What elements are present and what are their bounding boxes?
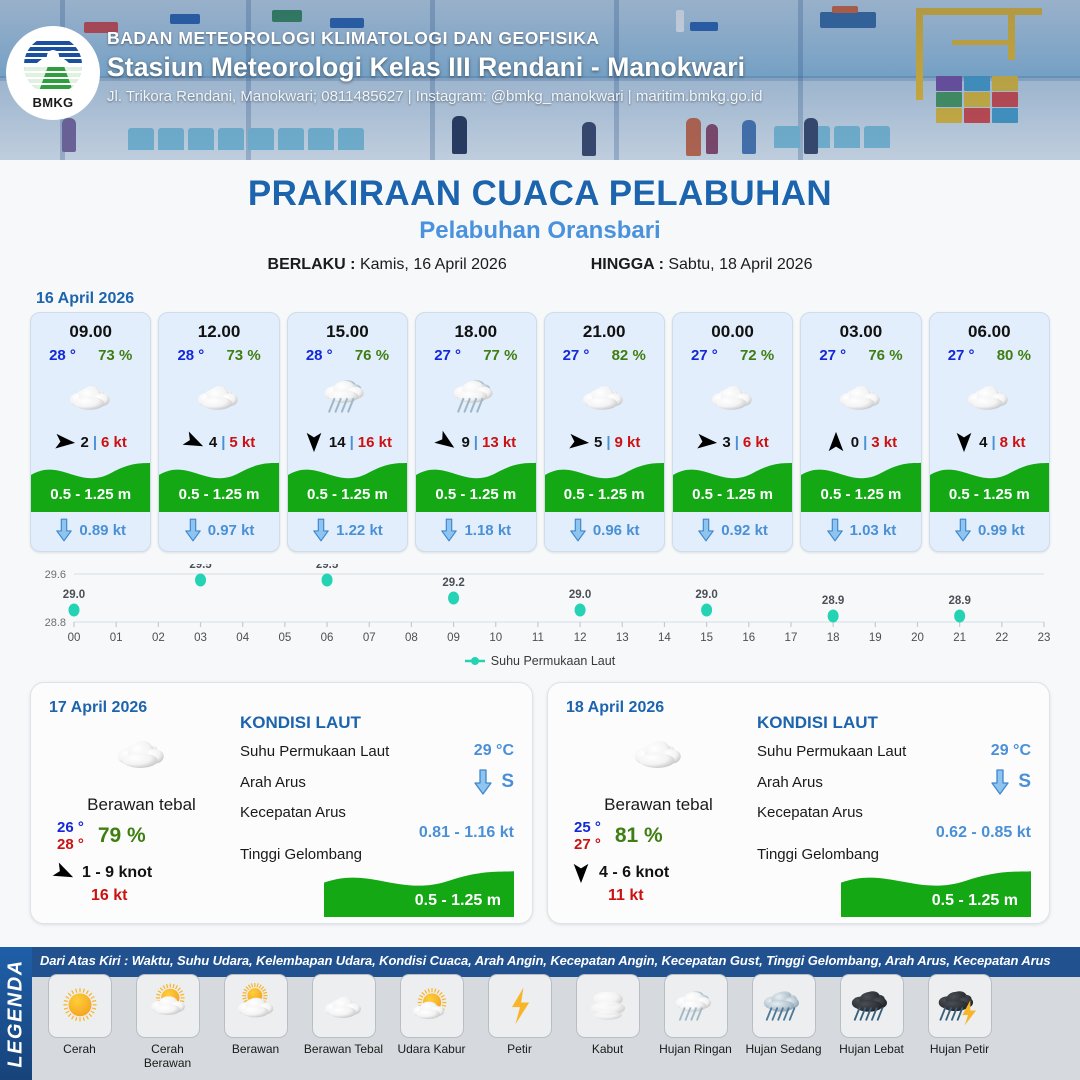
card-temp-humidity: 27 ° 80 % [930,342,1049,364]
cloudy-icon [830,371,892,422]
bmkg-logo-text: BMKG [33,95,74,110]
daily-left-column: 17 April 2026 Berawan tebal [49,699,234,907]
svg-text:23: 23 [1038,632,1051,644]
sea-sst-row: Suhu Permukaan Laut 29 °C [240,742,514,760]
legend-icon-box [840,974,904,1038]
card-humidity: 73 % [98,347,132,364]
legend-items: Cerah Cerah Berawan [32,968,1080,1070]
legend-icon-box [312,974,376,1038]
legend-item: Berawan Tebal [302,974,385,1070]
card-time: 21.00 [545,313,664,342]
svg-text:15: 15 [700,632,713,644]
wave-height-graphic [545,456,665,512]
sea-current-direction: S [501,771,514,793]
card-current-speed: 1.03 kt [850,522,897,539]
legend-icon-box [400,974,464,1038]
card-current-speed: 0.89 kt [79,522,126,539]
card-wind-direction: 0 [851,434,859,451]
wind-direction-arrow-icon [303,431,325,453]
current-direction-arrow-icon [697,518,715,542]
legend-item: Kabut [566,974,649,1070]
card-current-row: 1.18 kt [416,512,535,551]
card-wind-row: 9 | 13 kt [416,425,535,455]
card-humidity: 80 % [997,347,1031,364]
legend-item-label: Hujan Petir [918,1042,1001,1056]
legend-icon-box [488,974,552,1038]
hourly-forecast-card: 03.00 27 ° 76 % [800,312,921,552]
card-gust-speed: 6 kt [743,434,769,451]
current-direction-arrow-icon [55,518,73,542]
card-temperature: 27 ° [691,347,718,364]
legend-item-label: Cerah [38,1042,121,1056]
legend-icon-box [136,974,200,1038]
card-wind-row: 4 | 8 kt [930,425,1049,455]
daily-wind-row: 4 - 6 knot [566,862,751,884]
card-wind-direction: 9 [461,434,469,451]
daily-sea-column: KONDISI LAUT Suhu Permukaan Laut 29 °C A… [234,699,514,907]
card-wind-row: 14 | 16 kt [288,425,407,455]
legend-item-label: Hujan Ringan [654,1042,737,1056]
wind-direction-arrow-icon [54,430,78,454]
daily-temp-max: 27 ° [574,836,601,853]
sea-sst-value: 29 °C [991,742,1031,760]
partly-cloudy-icon [140,983,196,1029]
card-current-speed: 1.18 kt [464,522,511,539]
card-current-speed: 0.96 kt [593,522,640,539]
svg-text:28.8: 28.8 [45,617,66,629]
card-weather-icon [673,367,792,425]
legend-section: LEGENDA Dari Atas Kiri : Waktu, Suhu Uda… [0,947,1080,1080]
card-temp-humidity: 28 ° 73 % [31,342,150,364]
rain-light-icon [316,371,378,422]
wind-direction-arrow-icon [825,431,847,453]
legend-item-label: Berawan [214,1042,297,1056]
card-weather-icon [159,367,278,425]
legend-item: Cerah [38,974,121,1070]
cloudy-icon [188,371,250,422]
card-time: 12.00 [159,313,278,342]
svg-text:18: 18 [827,632,840,644]
legend-item-label: Petir [478,1042,561,1056]
svg-text:17: 17 [785,632,798,644]
card-temperature: 28 ° [49,347,76,364]
card-temperature: 28 ° [177,347,204,364]
daily-temp-column: 25 ° 27 ° [574,819,601,853]
sea-sst-row: Suhu Permukaan Laut 29 °C [757,742,1031,760]
hourly-forecast-card: 12.00 28 ° 73 % [158,312,279,552]
card-wind-row: 4 | 5 kt [159,425,278,455]
haze-icon [404,983,460,1029]
card-temperature: 27 ° [563,347,590,364]
card-wind-row: 5 | 9 kt [545,425,664,455]
wave-height-graphic [288,456,408,512]
legend-item: Berawan [214,974,297,1070]
svg-text:12: 12 [574,632,587,644]
card-wave-height: 0.5 - 1.25 m [416,486,535,503]
daily-wind-range: 1 - 9 knot [82,864,152,882]
sea-sst-value: 29 °C [474,742,514,760]
legend-tab-label: LEGENDA [5,959,28,1067]
bmkg-logo-mark [22,36,84,94]
card-wave: 0.5 - 1.25 m [545,456,664,512]
card-current-row: 0.89 kt [31,512,150,551]
card-current-row: 1.22 kt [288,512,407,551]
hourly-date-label: 16 April 2026 [36,290,1080,308]
daily-wind-range: 4 - 6 knot [599,864,669,882]
valid-from: BERLAKU : Kamis, 16 April 2026 [268,256,507,274]
valid-to-value: Sabtu, 18 April 2026 [668,256,812,273]
sst-chart-svg: 28.829.600010203040506070809101112131415… [22,564,1058,652]
daily-weather-icon [566,723,751,783]
svg-text:14: 14 [658,632,671,644]
current-direction-arrow-icon [569,518,587,542]
agency-name: BADAN METEOROLOGI KLIMATOLOGI DAN GEOFIS… [107,28,763,49]
legend-body: Dari Atas Kiri : Waktu, Suhu Udara, Kele… [32,947,1080,1080]
card-temp-humidity: 27 ° 76 % [801,342,920,364]
sea-wave-graphic-wrap: 0.5 - 1.25 m [757,865,1031,919]
sea-current-direction: S [1018,771,1031,793]
svg-text:09: 09 [447,632,460,644]
wind-direction-arrow-icon [49,858,78,887]
svg-text:21: 21 [953,632,966,644]
card-time: 15.00 [288,313,407,342]
card-wave-height: 0.5 - 1.25 m [801,486,920,503]
legend-item: Udara Kabur [390,974,473,1070]
card-weather-icon [545,367,664,425]
card-wave-height: 0.5 - 1.25 m [930,486,1049,503]
legend-icon-box [48,974,112,1038]
svg-text:28.9: 28.9 [822,595,844,607]
cloudy-icon [106,723,178,782]
svg-text:06: 06 [321,632,334,644]
legend-icon-box [664,974,728,1038]
card-current-row: 0.92 kt [673,512,792,551]
sea-sst-label: Suhu Permukaan Laut [757,743,906,760]
svg-text:01: 01 [110,632,123,644]
card-humidity: 76 % [868,347,902,364]
svg-text:02: 02 [152,632,165,644]
svg-text:22: 22 [995,632,1008,644]
sea-current-dir-row: Arah Arus S [240,769,514,795]
svg-text:29.0: 29.0 [695,589,717,601]
cloudy-icon [573,371,635,422]
svg-text:20: 20 [911,632,924,644]
card-separator: | [350,434,354,451]
rain-light-icon [445,371,507,422]
hourly-forecast-card: 21.00 27 ° 82 % [544,312,665,552]
card-humidity: 82 % [612,347,646,364]
legend-item: Hujan Sedang [742,974,825,1070]
svg-text:29.0: 29.0 [569,589,591,601]
card-temp-humidity: 27 ° 72 % [673,342,792,364]
daily-weather-icon [49,723,234,783]
svg-text:07: 07 [363,632,376,644]
wind-direction-arrow-icon [953,431,975,453]
card-temperature: 28 ° [306,347,333,364]
card-separator: | [606,434,610,451]
legend-icon-box [928,974,992,1038]
cloudy-icon [702,371,764,422]
wind-direction-arrow-icon [179,427,208,456]
card-separator: | [221,434,225,451]
legend-icon-box [576,974,640,1038]
header-text-block: BADAN METEOROLOGI KLIMATOLOGI DAN GEOFIS… [107,28,763,105]
svg-text:29.0: 29.0 [63,589,85,601]
card-temp-humidity: 27 ° 82 % [545,342,664,364]
svg-text:05: 05 [278,632,291,644]
daily-temp-max: 28 ° [57,836,84,853]
hourly-forecast-card: 15.00 28 ° 76 % [287,312,408,552]
wave-height-graphic [416,456,536,512]
card-time: 18.00 [416,313,535,342]
card-wave: 0.5 - 1.25 m [159,456,278,512]
legend-item: Hujan Petir [918,974,1001,1070]
legend-icon-box [752,974,816,1038]
page-header: BMKG BADAN METEOROLOGI KLIMATOLOGI DAN G… [0,0,1080,160]
daily-condition: Berawan tebal [49,795,234,815]
card-current-row: 0.97 kt [159,512,278,551]
wind-direction-arrow-icon [695,430,719,454]
svg-text:16: 16 [742,632,755,644]
card-temperature: 27 ° [819,347,846,364]
svg-text:29.2: 29.2 [442,577,464,589]
card-time: 03.00 [801,313,920,342]
sea-current-speed-value: 0.81 - 1.16 kt [240,824,514,842]
card-gust-speed: 16 kt [358,434,392,451]
svg-text:29.6: 29.6 [45,569,66,581]
rain-moderate-icon [756,983,812,1029]
legend-item-label: Hujan Sedang [742,1042,825,1056]
card-separator: | [991,434,995,451]
card-current-row: 0.96 kt [545,512,664,551]
legend-item-label: Hujan Lebat [830,1042,913,1056]
card-time: 06.00 [930,313,1049,342]
validity-row: BERLAKU : Kamis, 16 April 2026 HINGGA : … [0,256,1080,274]
daily-gust: 11 kt [566,887,751,905]
daily-humidity: 81 % [615,824,663,848]
card-time: 09.00 [31,313,150,342]
sea-current-dir-row: Arah Arus S [757,769,1031,795]
sea-wave-label: Tinggi Gelombang [240,846,514,863]
card-wave-height: 0.5 - 1.25 m [673,486,792,503]
card-gust-speed: 13 kt [482,434,516,451]
card-wind-direction: 4 [979,434,987,451]
daily-forecast-row: 17 April 2026 Berawan tebal [0,676,1080,924]
mostly-cloudy-icon [228,983,284,1029]
thunderstorm-icon [932,983,988,1029]
sea-wave-label: Tinggi Gelombang [757,846,1031,863]
hourly-forecast-row: 09.00 28 ° 73 % [0,312,1080,552]
wind-direction-arrow-icon [431,427,462,458]
svg-text:11: 11 [532,632,544,644]
chart-legend-marker-icon [465,656,485,666]
daily-date: 18 April 2026 [566,699,751,717]
card-separator: | [735,434,739,451]
current-direction-arrow-icon [473,769,493,795]
sea-wave-height: 0.5 - 1.25 m [932,892,1018,910]
legend-item: Petir [478,974,561,1070]
chart-legend-label: Suhu Permukaan Laut [491,654,615,668]
legend-item-label: Cerah Berawan [126,1042,209,1070]
wave-height-graphic [159,456,279,512]
card-wind-direction: 2 [80,434,88,451]
current-direction-arrow-icon [312,518,330,542]
daily-wind-row: 1 - 9 knot [49,862,234,884]
card-gust-speed: 3 kt [871,434,897,451]
daily-condition: Berawan tebal [566,795,751,815]
wave-height-graphic [801,456,921,512]
legend-item: Hujan Ringan [654,974,737,1070]
card-wind-row: 0 | 3 kt [801,425,920,455]
legend-icon-box [224,974,288,1038]
daily-temp-min: 25 ° [574,819,601,836]
card-wind-row: 3 | 6 kt [673,425,792,455]
sea-current-speed-label: Kecepatan Arus [757,804,1031,821]
current-direction-arrow-icon [826,518,844,542]
sea-current-dir-label: Arah Arus [757,774,823,791]
daily-temp-humidity: 26 ° 28 ° 79 % [49,819,234,853]
sea-current-speed-block: Kecepatan Arus 0.62 - 0.85 kt [757,804,1031,842]
cloudy-icon [316,983,372,1029]
legend-item: Cerah Berawan [126,974,209,1070]
daily-temp-humidity: 25 ° 27 ° 81 % [566,819,751,853]
current-direction-arrow-icon [990,769,1010,795]
card-current-speed: 1.22 kt [336,522,383,539]
card-wind-direction: 4 [209,434,217,451]
legend-item-label: Udara Kabur [390,1042,473,1056]
card-weather-icon [288,367,407,425]
current-direction-arrow-icon [184,518,202,542]
legend-item: Hujan Lebat [830,974,913,1070]
card-gust-speed: 9 kt [615,434,641,451]
card-wind-direction: 3 [722,434,730,451]
daily-sea-column: KONDISI LAUT Suhu Permukaan Laut 29 °C A… [751,699,1031,907]
card-wave: 0.5 - 1.25 m [930,456,1049,512]
page-subtitle: Pelabuhan Oransbari [0,217,1080,245]
sea-current-speed-value: 0.62 - 0.85 kt [757,824,1031,842]
sea-current-dir-label: Arah Arus [240,774,306,791]
cloudy-icon [60,371,122,422]
card-humidity: 72 % [740,347,774,364]
bmkg-logo: BMKG [6,26,100,120]
legend-tab: LEGENDA [0,947,32,1080]
cloudy-icon [958,371,1020,422]
daily-date: 17 April 2026 [49,699,234,717]
card-wave: 0.5 - 1.25 m [288,456,407,512]
card-current-speed: 0.97 kt [208,522,255,539]
daily-forecast-panel: 17 April 2026 Berawan tebal [30,682,533,924]
chart-legend: Suhu Permukaan Laut [22,654,1058,668]
rain-light-icon [668,983,724,1029]
card-gust-speed: 6 kt [101,434,127,451]
svg-text:00: 00 [68,632,81,644]
sea-conditions-title: KONDISI LAUT [240,713,514,733]
card-separator: | [93,434,97,451]
card-time: 00.00 [673,313,792,342]
card-weather-icon [31,367,150,425]
svg-text:03: 03 [194,632,207,644]
card-wind-direction: 14 [329,434,346,451]
hourly-forecast-card: 00.00 27 ° 72 % [672,312,793,552]
bmkg-logo-svg [22,36,84,94]
card-wind-direction: 5 [594,434,602,451]
svg-text:13: 13 [616,632,629,644]
card-temperature: 27 ° [434,347,461,364]
card-wave-height: 0.5 - 1.25 m [545,486,664,503]
rain-heavy-icon [844,983,900,1029]
daily-temp-min: 26 ° [57,819,84,836]
card-humidity: 76 % [355,347,389,364]
card-gust-speed: 5 kt [229,434,255,451]
card-wave: 0.5 - 1.25 m [416,456,535,512]
cloudy-icon [623,723,695,782]
card-temp-humidity: 28 ° 76 % [288,342,407,364]
card-current-row: 1.03 kt [801,512,920,551]
card-wind-row: 2 | 6 kt [31,425,150,455]
daily-left-column: 18 April 2026 Berawan tebal [566,699,751,907]
svg-text:10: 10 [489,632,502,644]
legend-note: Dari Atas Kiri : Waktu, Suhu Udara, Kele… [32,947,1080,968]
title-section: PRAKIRAAN CUACA PELABUHAN Pelabuhan Oran… [0,160,1080,274]
legend-item-label: Kabut [566,1042,649,1056]
sea-current-dir-value-group: S [473,769,514,795]
card-gust-speed: 8 kt [1000,434,1026,451]
sea-current-speed-label: Kecepatan Arus [240,804,514,821]
valid-from-value: Kamis, 16 April 2026 [360,256,507,273]
card-wave: 0.5 - 1.25 m [801,456,920,512]
hourly-forecast-card: 09.00 28 ° 73 % [30,312,151,552]
card-weather-icon [416,367,535,425]
hourly-forecast-card: 06.00 27 ° 80 % [929,312,1050,552]
wave-height-graphic [673,456,793,512]
sea-wave-graphic-wrap: 0.5 - 1.25 m [240,865,514,919]
fog-icon [580,983,636,1029]
card-weather-icon [930,367,1049,425]
valid-to-label: HINGGA : [591,256,664,273]
daily-gust: 16 kt [49,887,234,905]
wave-height-graphic [31,456,151,512]
svg-text:08: 08 [405,632,418,644]
current-direction-arrow-icon [440,518,458,542]
card-wave-height: 0.5 - 1.25 m [288,486,407,503]
valid-from-label: BERLAKU : [268,256,356,273]
card-current-speed: 0.99 kt [978,522,1025,539]
card-current-row: 0.99 kt [930,512,1049,551]
card-wave-height: 0.5 - 1.25 m [159,486,278,503]
card-temperature: 27 ° [948,347,975,364]
svg-text:19: 19 [869,632,882,644]
legend-item-label: Berawan Tebal [302,1042,385,1056]
card-wave-height: 0.5 - 1.25 m [31,486,150,503]
daily-temp-column: 26 ° 28 ° [57,819,84,853]
card-humidity: 77 % [483,347,517,364]
daily-humidity: 79 % [98,824,146,848]
daily-forecast-panel: 18 April 2026 Berawan tebal [547,682,1050,924]
card-wave: 0.5 - 1.25 m [31,456,150,512]
wave-height-graphic [930,456,1050,512]
card-separator: | [863,434,867,451]
wind-direction-arrow-icon [567,430,591,454]
wind-direction-arrow-icon [570,862,592,884]
card-wave: 0.5 - 1.25 m [673,456,792,512]
lightning-icon [492,983,548,1029]
sea-current-speed-block: Kecepatan Arus 0.81 - 1.16 kt [240,804,514,842]
page-title: PRAKIRAAN CUACA PELABUHAN [0,174,1080,214]
sea-wave-height: 0.5 - 1.25 m [415,892,501,910]
card-separator: | [474,434,478,451]
svg-text:28.9: 28.9 [948,595,970,607]
card-humidity: 73 % [226,347,260,364]
